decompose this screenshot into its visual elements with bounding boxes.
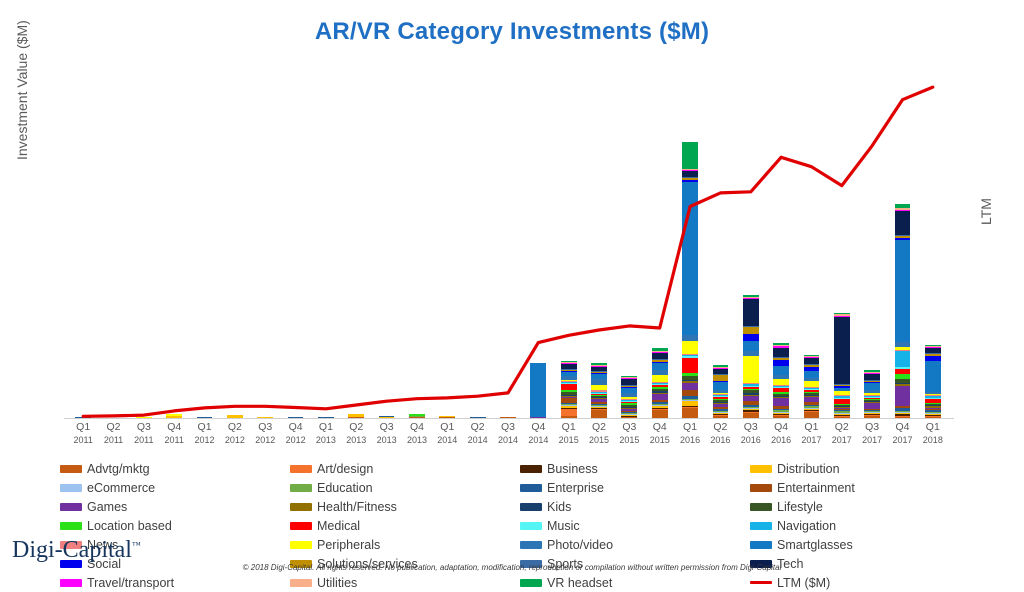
tick-quarter: Q4	[645, 421, 675, 434]
tick-year: 2011	[129, 434, 159, 447]
x-axis-tick-label: Q12014	[432, 421, 462, 446]
tick-year: 2014	[462, 434, 492, 447]
tick-year: 2015	[645, 434, 675, 447]
legend-item[interactable]: Music	[520, 516, 750, 535]
legend-label: Business	[547, 462, 598, 476]
legend-swatch-icon	[290, 484, 312, 492]
legend-item[interactable]: Games	[60, 497, 290, 516]
page-title: AR/VR Category Investments ($M)	[0, 18, 1024, 46]
bar-segment	[834, 317, 850, 385]
legend-label: Utilities	[317, 576, 357, 590]
bar-segment	[895, 240, 911, 342]
bar-segment	[713, 382, 729, 390]
legend-label: Advtg/mktg	[87, 462, 150, 476]
x-axis-tick-label: Q22017	[827, 421, 857, 446]
x-axis-tick-label: Q42017	[887, 421, 917, 446]
legend-swatch-icon	[520, 579, 542, 587]
bar-segment	[895, 386, 911, 407]
tick-year: 2015	[614, 434, 644, 447]
legend-label: Medical	[317, 519, 360, 533]
legend-item[interactable]: eCommerce	[60, 478, 290, 497]
legend-item[interactable]: Art/design	[290, 459, 520, 478]
tick-quarter: Q1	[796, 421, 826, 434]
bar-segment	[682, 390, 698, 397]
tick-year: 2013	[341, 434, 371, 447]
legend-label: Games	[87, 500, 127, 514]
tick-quarter: Q2	[220, 421, 250, 434]
tick-quarter: Q1	[432, 421, 462, 434]
bar-column[interactable]	[621, 376, 637, 418]
legend-label: Lifestyle	[777, 500, 823, 514]
bar-column[interactable]	[834, 313, 850, 418]
x-axis-tick-label: Q22014	[462, 421, 492, 446]
x-axis-tick-label: Q12017	[796, 421, 826, 446]
tick-quarter: Q2	[584, 421, 614, 434]
x-axis-tick-label: Q42011	[159, 421, 189, 446]
tick-quarter: Q4	[766, 421, 796, 434]
legend-swatch-icon	[60, 579, 82, 587]
tick-quarter: Q2	[462, 421, 492, 434]
tick-year: 2012	[250, 434, 280, 447]
bar-column[interactable]	[713, 365, 729, 418]
legend-item[interactable]: Peripherals	[290, 535, 520, 554]
x-axis-tick-label: Q22011	[98, 421, 128, 446]
tick-year: 2012	[220, 434, 250, 447]
tick-quarter: Q3	[493, 421, 523, 434]
x-axis-tick-label: Q22012	[220, 421, 250, 446]
bar-column[interactable]	[895, 204, 911, 418]
x-axis-tick-label: Q42016	[766, 421, 796, 446]
tick-year: 2011	[159, 434, 189, 447]
tick-quarter: Q2	[98, 421, 128, 434]
bar-column[interactable]	[561, 361, 577, 418]
bar-segment	[773, 398, 789, 406]
tick-year: 2016	[675, 434, 705, 447]
legend-swatch-icon	[60, 465, 82, 473]
digi-capital-logo: Digi-Capital™	[12, 537, 141, 564]
legend-swatch-icon	[60, 484, 82, 492]
bar-segment	[682, 341, 698, 354]
legend-label: Music	[547, 519, 580, 533]
legend-swatch-icon	[520, 503, 542, 511]
legend-label: Health/Fitness	[317, 500, 397, 514]
legend-swatch-icon	[750, 484, 772, 492]
legend-swatch-icon	[520, 541, 542, 549]
x-axis-tick-label: Q12018	[918, 421, 948, 446]
bar-segment	[682, 182, 698, 335]
legend-swatch-icon	[750, 541, 772, 549]
tick-year: 2015	[554, 434, 584, 447]
legend-label: Entertainment	[777, 481, 855, 495]
bar-segment	[743, 356, 759, 384]
tick-quarter: Q1	[675, 421, 705, 434]
tick-quarter: Q4	[887, 421, 917, 434]
tick-quarter: Q3	[736, 421, 766, 434]
x-axis-tick-label: Q32013	[371, 421, 401, 446]
legend-item[interactable]: Lifestyle	[750, 497, 980, 516]
chart-plot-area	[68, 62, 948, 418]
legend-item[interactable]: Photo/video	[520, 535, 750, 554]
tick-quarter: Q4	[523, 421, 553, 434]
legend-swatch-icon	[750, 522, 772, 530]
bar-segment	[652, 375, 668, 382]
bar-segment	[682, 142, 698, 168]
legend-label: Distribution	[777, 462, 840, 476]
x-axis-tick-label: Q12012	[189, 421, 219, 446]
tick-year: 2017	[796, 434, 826, 447]
tick-quarter: Q1	[311, 421, 341, 434]
bar-segment	[743, 327, 759, 334]
bar-column[interactable]	[773, 343, 789, 418]
x-axis-tick-label: Q32015	[614, 421, 644, 446]
legend-swatch-icon	[60, 503, 82, 511]
bar-column[interactable]	[652, 348, 668, 418]
bar-segment	[682, 408, 698, 418]
legend-item[interactable]: Education	[290, 478, 520, 497]
legend-label: eCommerce	[87, 481, 155, 495]
copyright-notice: © 2018 Digi-Capital. All rights reserved…	[0, 563, 1024, 572]
bar-segment	[652, 363, 668, 370]
tick-year: 2014	[432, 434, 462, 447]
legend-label: Enterprise	[547, 481, 604, 495]
tick-year: 2011	[98, 434, 128, 447]
tick-year: 2012	[189, 434, 219, 447]
legend-swatch-icon	[290, 465, 312, 473]
tick-year: 2014	[523, 434, 553, 447]
legend-item[interactable]: Entertainment	[750, 478, 980, 497]
tick-quarter: Q3	[250, 421, 280, 434]
tick-quarter: Q3	[857, 421, 887, 434]
legend-item[interactable]: Kids	[520, 497, 750, 516]
legend-line-icon	[750, 581, 772, 584]
legend-label: Smartglasses	[777, 538, 853, 552]
legend-swatch-icon	[750, 465, 772, 473]
x-axis-tick-label: Q32014	[493, 421, 523, 446]
legend-swatch-icon	[290, 503, 312, 511]
tick-year: 2013	[371, 434, 401, 447]
legend-swatch-icon	[520, 484, 542, 492]
x-axis-tick-label: Q22016	[705, 421, 735, 446]
tick-year: 2018	[918, 434, 948, 447]
legend-label: Peripherals	[317, 538, 380, 552]
bar-segment	[773, 366, 789, 374]
tick-year: 2013	[402, 434, 432, 447]
legend-label: Location based	[87, 519, 172, 533]
legend-label: Photo/video	[547, 538, 613, 552]
legend-label: Navigation	[777, 519, 836, 533]
tick-quarter: Q2	[705, 421, 735, 434]
legend-item[interactable]: Advtg/mktg	[60, 459, 290, 478]
bar-segment	[773, 348, 789, 357]
x-axis-labels: Q12011Q22011Q32011Q42011Q12012Q22012Q320…	[68, 421, 948, 449]
bar-column[interactable]	[743, 295, 759, 418]
tick-year: 2011	[68, 434, 98, 447]
tick-year: 2013	[311, 434, 341, 447]
bar-segment	[925, 361, 941, 392]
legend-item[interactable]: Health/Fitness	[290, 497, 520, 516]
x-axis-tick-label: Q12015	[554, 421, 584, 446]
x-axis-tick-label: Q42012	[280, 421, 310, 446]
bar-column[interactable]	[864, 370, 880, 418]
legend-item[interactable]: Smartglasses	[750, 535, 980, 554]
tick-quarter: Q4	[159, 421, 189, 434]
tick-quarter: Q1	[68, 421, 98, 434]
bar-segment	[743, 299, 759, 326]
bar-column[interactable]	[530, 363, 546, 418]
bar-column[interactable]	[591, 363, 607, 418]
bar-column[interactable]	[804, 355, 820, 418]
tick-year: 2016	[736, 434, 766, 447]
legend-label: Travel/transport	[87, 576, 174, 590]
x-axis-tick-label: Q12016	[675, 421, 705, 446]
legend-swatch-icon	[60, 522, 82, 530]
legend-swatch-icon	[520, 465, 542, 473]
x-axis-tick-label: Q32017	[857, 421, 887, 446]
y-axis-label: Investment Value ($M)	[14, 0, 30, 160]
x-axis-tick-label: Q42015	[645, 421, 675, 446]
legend-swatch-icon	[750, 503, 772, 511]
tick-quarter: Q3	[371, 421, 401, 434]
legend-item[interactable]: Navigation	[750, 516, 980, 535]
bar-segment	[895, 351, 911, 367]
tick-quarter: Q4	[280, 421, 310, 434]
bar-segment	[743, 341, 759, 352]
legend-swatch-icon	[290, 541, 312, 549]
legend-label: Kids	[547, 500, 571, 514]
tick-year: 2017	[827, 434, 857, 447]
tick-year: 2015	[584, 434, 614, 447]
tick-quarter: Q3	[129, 421, 159, 434]
bar-column[interactable]	[682, 142, 698, 418]
legend-swatch-icon	[290, 522, 312, 530]
axis-baseline	[64, 418, 954, 419]
legend-label: Education	[317, 481, 373, 495]
legend-swatch-icon	[290, 579, 312, 587]
x-axis-tick-label: Q12013	[311, 421, 341, 446]
x-axis-tick-label: Q12011	[68, 421, 98, 446]
bar-segment	[895, 211, 911, 235]
bar-column[interactable]	[925, 345, 941, 418]
tick-year: 2016	[766, 434, 796, 447]
right-axis-label: LTM	[978, 145, 994, 225]
bar-segment	[682, 383, 698, 390]
tick-quarter: Q1	[554, 421, 584, 434]
bar-segment	[652, 410, 668, 418]
x-axis-tick-label: Q32011	[129, 421, 159, 446]
bar-segment	[561, 409, 577, 417]
logo-text: Digi-Capital	[12, 537, 132, 563]
tick-quarter: Q1	[918, 421, 948, 434]
legend-label: VR headset	[547, 576, 612, 590]
bar-segment	[530, 363, 546, 417]
x-axis-tick-label: Q42013	[402, 421, 432, 446]
x-axis-tick-label: Q22013	[341, 421, 371, 446]
tick-year: 2014	[493, 434, 523, 447]
tick-quarter: Q1	[189, 421, 219, 434]
tick-year: 2017	[857, 434, 887, 447]
x-axis-tick-label: Q22015	[584, 421, 614, 446]
tick-quarter: Q2	[827, 421, 857, 434]
x-axis-tick-label: Q32016	[736, 421, 766, 446]
legend-label: LTM ($M)	[777, 576, 830, 590]
legend-item[interactable]: Medical	[290, 516, 520, 535]
tick-quarter: Q3	[614, 421, 644, 434]
tick-year: 2017	[887, 434, 917, 447]
x-axis-tick-label: Q42014	[523, 421, 553, 446]
chart-legend: Advtg/mktgArt/designBusinessDistribution…	[60, 459, 980, 592]
tick-quarter: Q2	[341, 421, 371, 434]
legend-item[interactable]: Distribution	[750, 459, 980, 478]
legend-item[interactable]: Business	[520, 459, 750, 478]
tick-year: 2016	[705, 434, 735, 447]
tick-year: 2012	[280, 434, 310, 447]
trademark-icon: ™	[132, 540, 141, 550]
bar-segment	[591, 410, 607, 418]
x-axis-tick-label: Q32012	[250, 421, 280, 446]
bar-segment	[682, 358, 698, 373]
legend-swatch-icon	[520, 522, 542, 530]
legend-label: Art/design	[317, 462, 373, 476]
legend-item[interactable]: Enterprise	[520, 478, 750, 497]
legend-item[interactable]: Location based	[60, 516, 290, 535]
tick-quarter: Q4	[402, 421, 432, 434]
